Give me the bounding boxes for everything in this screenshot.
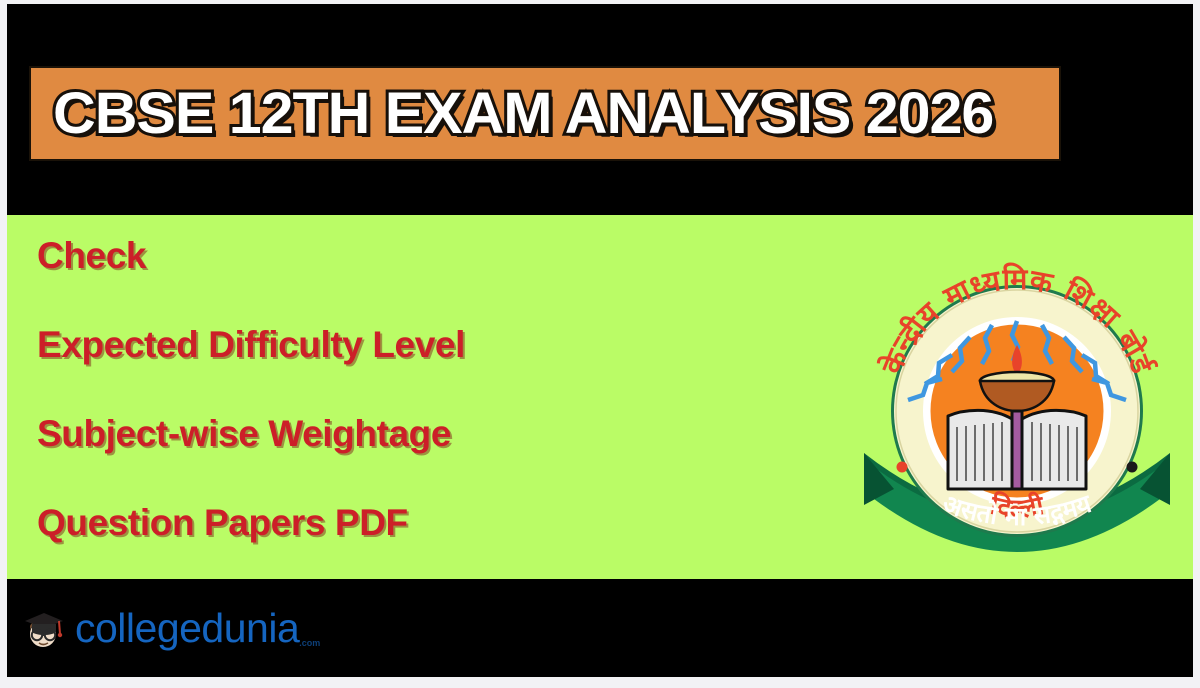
graduate-mascot-icon	[21, 605, 67, 651]
page-title: CBSE 12TH EXAM ANALYSIS 2026	[53, 85, 993, 143]
highlights-list: Check Expected Difficulty Level Subject-…	[37, 237, 677, 541]
brand-logo[interactable]: collegedunia .com	[21, 605, 299, 651]
list-item: Question Papers PDF	[37, 504, 677, 541]
list-item: Check	[37, 237, 677, 274]
brand-tld: .com	[299, 639, 320, 648]
list-item: Expected Difficulty Level	[37, 326, 677, 363]
list-item: Subject-wise Weightage	[37, 415, 677, 452]
title-banner: CBSE 12TH EXAM ANALYSIS 2026	[29, 66, 1061, 161]
highlights-panel: Check Expected Difficulty Level Subject-…	[7, 215, 1193, 579]
top-band: CBSE 12TH EXAM ANALYSIS 2026	[7, 4, 1193, 215]
brand-wordmark: collegedunia .com	[75, 608, 299, 649]
footer-bar: collegedunia .com	[7, 579, 1193, 677]
cbse-board-logo-icon: केन्द्रीय माध्यमिक शिक्षा बोर्ड दिल्ली अ…	[852, 221, 1182, 579]
poster-canvas: CBSE 12TH EXAM ANALYSIS 2026 Check Expec…	[7, 4, 1193, 677]
brand-name: collegedunia	[75, 605, 299, 651]
